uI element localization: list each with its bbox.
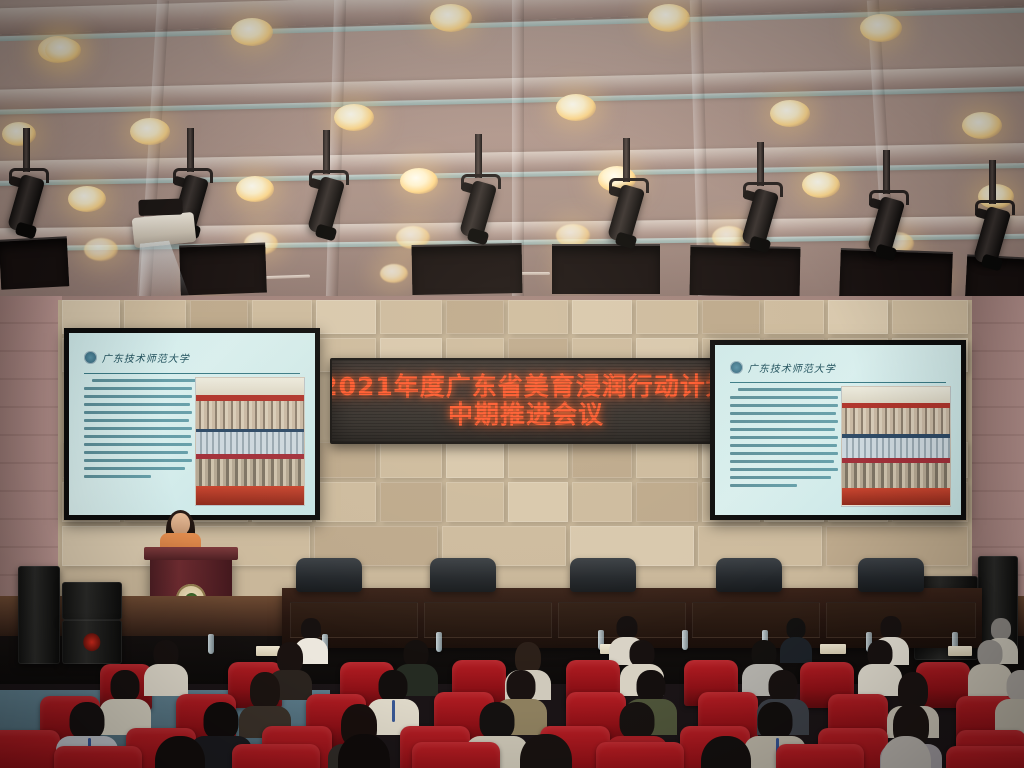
university-seal-logo <box>730 361 743 374</box>
audience-seat <box>412 742 500 768</box>
audience-seat <box>946 746 1024 768</box>
audience-member <box>872 736 940 768</box>
audience-member <box>782 618 810 660</box>
acoustic-alcove <box>0 236 69 289</box>
projector-mount <box>138 198 183 216</box>
ceiling-downlight <box>770 100 810 127</box>
presentation-slide-left: 广东技术师范大学 <box>69 333 315 515</box>
podium-top <box>144 547 238 560</box>
right-projection-screen: 广东技术师范大学 <box>710 340 966 520</box>
acoustic-alcove <box>552 244 660 294</box>
stage-spotlight <box>606 138 646 248</box>
ceiling-downlight <box>400 168 438 194</box>
audience-member <box>512 736 580 768</box>
executive-chair <box>858 558 924 592</box>
executive-chair <box>296 558 362 592</box>
audience-seat <box>0 730 60 768</box>
ceiling-downlight <box>648 4 690 32</box>
main-led-banner: 2021年度广东省美育浸润行动计划 中期推进会议 <box>330 358 722 444</box>
led-banner-line-1: 2021年度广东省美育浸润行动计划 <box>330 373 722 401</box>
acoustic-alcove <box>412 243 523 295</box>
audience-seat <box>54 746 142 768</box>
ceiling-downlight <box>962 112 1002 139</box>
ceiling-downlight <box>556 94 596 121</box>
stage-spotlight <box>740 142 780 252</box>
stage-spotlight <box>6 128 46 238</box>
slide-photo-collage <box>841 386 951 507</box>
stage-spotlight <box>972 160 1012 270</box>
stage-spotlight <box>458 134 498 244</box>
slide-header-title: 广东技术师范大学 <box>748 360 836 375</box>
audience-member <box>692 736 760 768</box>
left-projection-screen: 广东技术师范大学 <box>64 328 320 520</box>
executive-chair <box>716 558 782 592</box>
university-seal-logo <box>84 351 97 364</box>
slide-header: 广东技术师范大学 <box>730 354 947 384</box>
ceiling-downlight <box>84 238 118 261</box>
ceiling-downlight <box>802 172 840 198</box>
audience-seat <box>596 742 684 768</box>
executive-chair <box>570 558 636 592</box>
ceiling-downlight <box>130 118 170 145</box>
ceiling-downlight <box>68 186 106 212</box>
acoustic-alcove <box>179 243 267 296</box>
audience-member <box>1000 670 1024 730</box>
ceiling <box>0 0 1024 300</box>
slide-photo-collage <box>195 377 305 506</box>
audience-member <box>146 736 214 768</box>
ceiling-downlight <box>45 38 81 62</box>
ceiling-downlight <box>380 264 408 283</box>
ceiling-downlight <box>236 176 274 202</box>
presentation-slide-right: 广东技术师范大学 <box>715 345 961 515</box>
presenter-head <box>171 513 190 535</box>
stage-spotlight <box>866 150 906 260</box>
ceiling-downlight <box>231 18 273 46</box>
conference-hall-photo: 广东技术师范大学 <box>0 0 1024 768</box>
slide-header: 广东技术师范大学 <box>84 342 301 374</box>
audience-seat <box>232 744 320 768</box>
slide-header-title: 广东技术师范大学 <box>102 350 190 365</box>
audience-seat <box>776 744 864 768</box>
acoustic-alcove <box>690 245 801 297</box>
ceiling-downlight <box>860 14 902 42</box>
slide-text-block <box>84 379 192 505</box>
led-banner-line-2: 中期推进会议 <box>448 401 604 429</box>
stage-spotlight <box>306 130 346 240</box>
audience-seating-area <box>0 604 1024 768</box>
audience-member <box>148 640 184 692</box>
executive-chair <box>430 558 496 592</box>
audience-member <box>244 670 286 730</box>
ceiling-downlight <box>334 104 374 131</box>
audience-member <box>330 736 398 768</box>
slide-text-block <box>730 388 838 505</box>
ceiling-downlight <box>430 4 472 32</box>
